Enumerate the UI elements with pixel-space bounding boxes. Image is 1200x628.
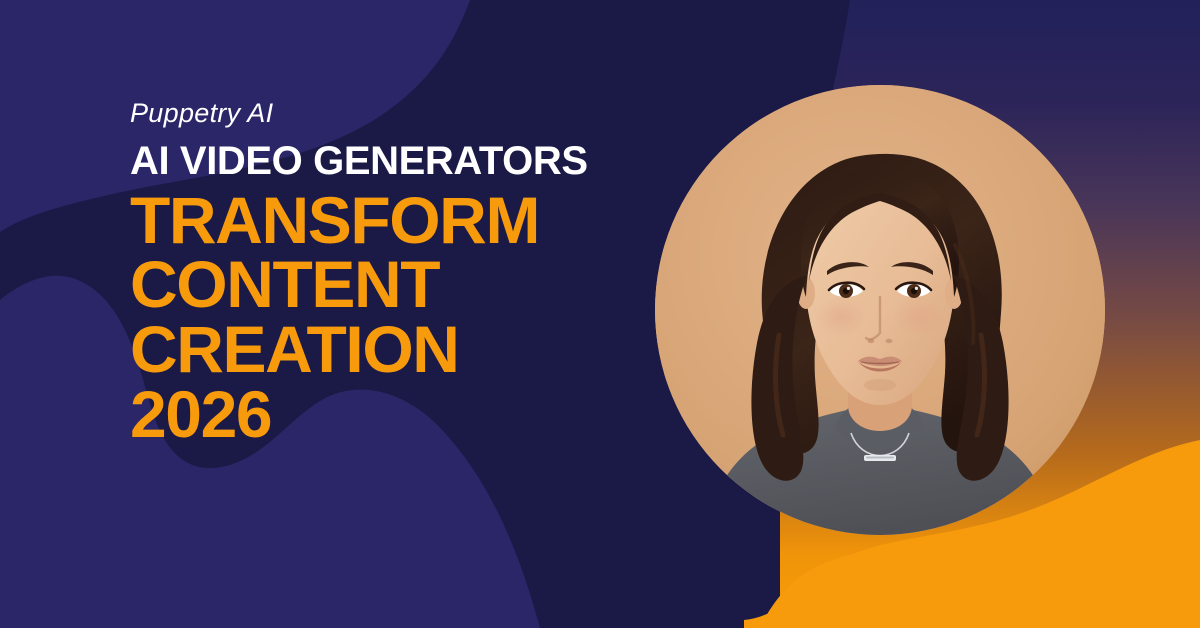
headline-main: TRANSFORM CONTENT CREATION 2026 [130, 188, 650, 447]
portrait-illustration [655, 85, 1105, 535]
headline-line-3: CREATION [130, 317, 650, 382]
headline-line-4: 2026 [130, 382, 650, 447]
headline-kicker: AI VIDEO GENERATORS [130, 141, 650, 182]
headline-text-block: Puppetry AI AI VIDEO GENERATORS TRANSFOR… [130, 100, 650, 446]
brand-name: Puppetry AI [130, 100, 650, 127]
headline-line-1: TRANSFORM [130, 188, 650, 253]
promo-banner: Puppetry AI AI VIDEO GENERATORS TRANSFOR… [0, 0, 1200, 628]
portrait-photo-circle [655, 85, 1105, 535]
headline-line-2: CONTENT [130, 252, 650, 317]
